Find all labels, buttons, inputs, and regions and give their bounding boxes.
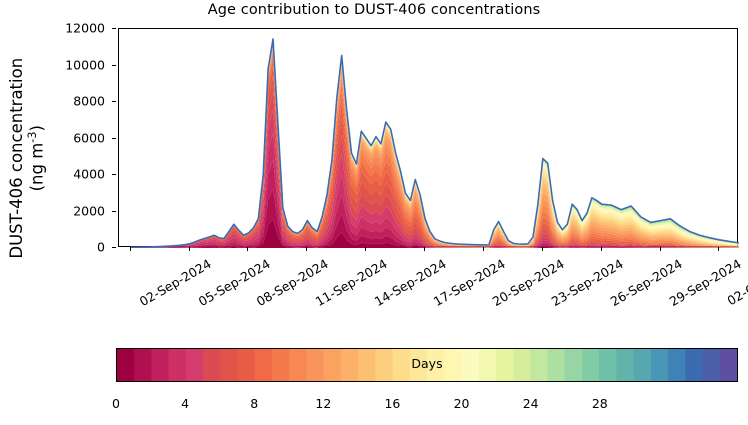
- colorbar-swatch: [651, 349, 669, 381]
- y-tick-mark: [112, 138, 116, 139]
- colorbar-swatch: [634, 349, 652, 381]
- area-band: [131, 39, 739, 247]
- colorbar-swatch: [375, 349, 393, 381]
- area-band: [131, 40, 739, 248]
- colorbar-swatch: [151, 349, 169, 381]
- colorbar-swatch: [341, 349, 359, 381]
- y-tick-label: 8000: [73, 94, 105, 109]
- colorbar-swatch: [272, 349, 290, 381]
- area-band: [131, 39, 739, 247]
- y-tick-label: 6000: [73, 130, 105, 145]
- colorbar-swatch: [134, 349, 152, 381]
- colorbar-swatch: [289, 349, 307, 381]
- colorbar-swatch: [720, 349, 738, 381]
- x-tick-mark: [424, 247, 425, 251]
- colorbar-swatch: [220, 349, 238, 381]
- x-tick-mark: [306, 247, 307, 251]
- stacked-area-plot: [119, 29, 739, 248]
- y-tick-mark: [112, 65, 116, 66]
- area-band: [131, 39, 739, 247]
- y-tick-label: 4000: [73, 167, 105, 182]
- colorbar-swatch: [427, 349, 445, 381]
- y-tick-label: 10000: [65, 57, 105, 72]
- area-band: [131, 39, 739, 247]
- colorbar-swatch: [255, 349, 273, 381]
- y-tick-mark: [112, 247, 116, 248]
- colorbar-swatch: [565, 349, 583, 381]
- colorbar-swatch: [324, 349, 342, 381]
- colorbar-swatch: [461, 349, 479, 381]
- colorbar-swatch: [685, 349, 703, 381]
- colorbar-swatch: [530, 349, 548, 381]
- colorbar-tick-label: 20: [454, 396, 470, 411]
- area-band: [131, 41, 739, 248]
- y-tick-label: 12000: [65, 21, 105, 36]
- colorbar-swatch: [479, 349, 497, 381]
- area-band: [131, 44, 739, 248]
- y-tick-mark: [112, 211, 116, 212]
- area-band: [131, 48, 739, 248]
- area-band: [131, 45, 739, 248]
- chart-figure: Age contribution to DUST-406 concentrati…: [0, 0, 748, 425]
- area-band: [131, 43, 739, 248]
- colorbar-swatch: [117, 349, 135, 381]
- area-band: [131, 53, 739, 247]
- colorbar-swatch: [169, 349, 187, 381]
- x-tick-mark: [601, 247, 602, 251]
- area-band: [131, 58, 739, 247]
- y-tick-mark: [112, 28, 116, 29]
- colorbar-swatch: [668, 349, 686, 381]
- area-band: [131, 41, 739, 247]
- colorbar-swatch: [496, 349, 514, 381]
- colorbar-swatch: [393, 349, 411, 381]
- colorbar-tick-label: 0: [112, 396, 120, 411]
- y-tick-label: 0: [97, 240, 105, 255]
- colorbar-tick-label: 8: [250, 396, 258, 411]
- area-band: [131, 39, 739, 247]
- colorbar-swatch: [582, 349, 600, 381]
- colorbar-tick-label: 24: [523, 396, 539, 411]
- area-band: [131, 46, 739, 247]
- x-tick-mark: [660, 247, 661, 251]
- colorbar-swatch: [599, 349, 617, 381]
- colorbar-swatch: [203, 349, 221, 381]
- colorbar-swatch: [513, 349, 531, 381]
- area-band: [131, 40, 739, 247]
- y-axis-ticks: 020004000600080001000012000: [0, 0, 113, 425]
- colorbar-tick-label: 12: [315, 396, 331, 411]
- colorbar[interactable]: [116, 348, 738, 382]
- y-tick-mark: [112, 101, 116, 102]
- x-tick-mark: [542, 247, 543, 251]
- area-band: [131, 50, 739, 247]
- colorbar-swatch: [410, 349, 428, 381]
- x-tick-mark: [483, 247, 484, 251]
- colorbar-swatch: [548, 349, 566, 381]
- colorbar-swatch: [186, 349, 204, 381]
- area-band: [131, 39, 739, 247]
- colorbar-gradient: [116, 348, 738, 382]
- x-tick-mark: [365, 247, 366, 251]
- y-tick-mark: [112, 174, 116, 175]
- area-band: [131, 39, 739, 247]
- x-tick-mark: [189, 247, 190, 251]
- area-band: [131, 39, 739, 247]
- colorbar-swatch: [306, 349, 324, 381]
- y-tick-label: 2000: [73, 203, 105, 218]
- x-tick-mark: [130, 247, 131, 251]
- colorbar-tick-label: 4: [181, 396, 189, 411]
- area-band: [131, 42, 739, 247]
- total-outline-line: [131, 39, 739, 247]
- x-tick-mark: [247, 247, 248, 251]
- colorbar-swatch: [703, 349, 721, 381]
- colorbar-tick-label: 16: [384, 396, 400, 411]
- colorbar-swatch: [238, 349, 256, 381]
- plot-area: [118, 28, 738, 247]
- colorbar-swatch: [444, 349, 462, 381]
- colorbar-swatch: [358, 349, 376, 381]
- colorbar-tick-label: 28: [592, 396, 608, 411]
- colorbar-swatch: [616, 349, 634, 381]
- area-band: [131, 40, 739, 247]
- x-tick-mark: [718, 247, 719, 251]
